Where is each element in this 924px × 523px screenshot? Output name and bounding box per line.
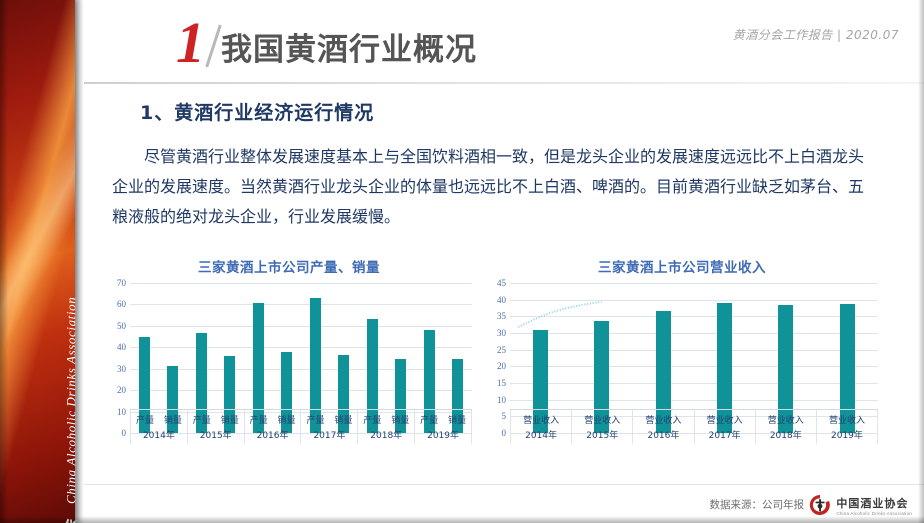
x-axis-group: 产量销量2019年: [415, 410, 472, 444]
y-axis-right: 051015202530354045: [484, 283, 508, 433]
x-axis-subcategory-label: 销量: [386, 413, 414, 426]
x-axis-group: 营业收入2018年: [756, 410, 817, 444]
association-logo-text: 中国酒业协会 China Alcoholic Drinks Associatio…: [836, 495, 912, 516]
chart-title-right: 三家黄酒上市公司营业收入: [484, 252, 880, 276]
x-axis-subcategory-label: 产量: [301, 413, 329, 426]
x-axis-subcategory-label: 产量: [188, 413, 216, 426]
x-axis-group: 营业收入2015年: [572, 410, 633, 444]
x-axis-subcategory-row: 营业收入: [756, 413, 816, 426]
x-axis-subcategory-row: 产量销量: [415, 413, 471, 426]
body-paragraph: 尽管黄酒行业整体发展速度基本上与全国饮料酒相一致，但是龙头企业的发展速度远远比不…: [112, 142, 864, 232]
y-tick-label: 40: [497, 295, 506, 305]
x-axis-group-label: 2017年: [695, 426, 755, 444]
x-axis-subcategory-label: 产量: [358, 413, 386, 426]
y-tick-label: 60: [117, 299, 126, 309]
x-axis-subcategory-label: 销量: [329, 413, 357, 426]
presentation-slide: 中国酒业协会 China Alcoholic Drinks Associatio…: [0, 0, 924, 523]
x-axis-subcategory-row: 产量销量: [301, 413, 357, 426]
section-number: 1: [176, 14, 205, 72]
x-axis-group-label: 2015年: [572, 426, 632, 444]
x-axis-subcategory-label: 销量: [443, 413, 471, 426]
logo-text-cn: 中国酒业协会: [836, 495, 912, 511]
x-axis-group: 营业收入2017年: [695, 410, 756, 444]
x-axis-subcategory-row: 营业收入: [633, 413, 693, 426]
x-axis-subcategory-label: 销量: [216, 413, 244, 426]
slide-bottom-shadow: [0, 516, 924, 523]
y-tick-label: 0: [502, 428, 507, 438]
section-heading: 1、黄酒行业经济运行情况: [140, 98, 374, 125]
page-title: 我国黄酒行业概况: [221, 24, 477, 69]
x-axis-group-label: 2016年: [245, 426, 301, 444]
x-axis-group-label: 2017年: [301, 426, 357, 444]
x-axis-right: 营业收入2014年营业收入2015年营业收入2016年营业收入2017年营业收入…: [510, 409, 878, 444]
y-tick-label: 35: [497, 311, 506, 321]
x-axis-subcategory-label: 产量: [415, 413, 443, 426]
header-slash-divider: [205, 25, 221, 68]
x-axis-subcategory-label: 营业收入: [511, 413, 571, 426]
y-tick-label: 20: [117, 385, 126, 395]
slide-header: 1 我国黄酒行业概况 黄酒分会工作报告 | 2020.07: [84, 0, 924, 84]
x-axis-subcategory-label: 销量: [159, 413, 187, 426]
report-label: 黄酒分会工作报告 | 2020.07: [733, 26, 899, 43]
x-axis-subcategory-label: 营业收入: [756, 413, 816, 426]
chart-production-sales: 三家黄酒上市公司产量、销量 010203040506070 产量销量2014年产…: [104, 252, 474, 474]
x-axis-subcategory-row: 营业收入: [572, 413, 632, 426]
brand-sidebar: 中国酒业协会 China Alcoholic Drinks Associatio…: [0, 0, 75, 523]
association-logo: 中国酒业协会 China Alcoholic Drinks Associatio…: [808, 493, 912, 517]
y-tick-label: 10: [117, 407, 126, 417]
y-tick-label: 15: [497, 378, 506, 388]
x-axis-subcategory-row: 营业收入: [695, 413, 755, 426]
y-axis-left: 010203040506070: [104, 283, 128, 433]
y-tick-label: 70: [117, 278, 126, 288]
x-axis-group-label: 2018年: [756, 426, 816, 444]
x-axis-subcategory-row: 产量销量: [245, 413, 301, 426]
x-axis-group-label: 2014年: [511, 426, 571, 444]
x-axis-subcategory-label: 营业收入: [572, 413, 632, 426]
x-axis-subcategory-label: 产量: [245, 413, 273, 426]
x-axis-group-label: 2016年: [633, 426, 693, 444]
y-tick-label: 30: [117, 364, 126, 374]
x-axis-subcategory-label: 销量: [273, 413, 301, 426]
x-axis-subcategory-label: 营业收入: [817, 413, 877, 426]
x-axis-group-label: 2015年: [188, 426, 244, 444]
y-tick-label: 40: [117, 342, 126, 352]
data-source-note: 数据来源：公司年报: [710, 497, 805, 512]
y-tick-label: 30: [497, 328, 506, 338]
x-axis-group: 产量销量2015年: [188, 410, 245, 444]
y-tick-label: 10: [497, 395, 506, 405]
x-axis-group: 营业收入2016年: [633, 410, 694, 444]
y-tick-label: 50: [117, 321, 126, 331]
association-logo-icon: [808, 493, 832, 517]
x-axis-subcategory-label: 营业收入: [695, 413, 755, 426]
x-axis-left: 产量销量2014年产量销量2015年产量销量2016年产量销量2017年产量销量…: [130, 409, 472, 444]
y-tick-label: 25: [497, 345, 506, 355]
y-tick-label: 20: [497, 361, 506, 371]
x-axis-group-label: 2019年: [817, 426, 877, 444]
chart-title-left: 三家黄酒上市公司产量、销量: [104, 252, 474, 276]
x-axis-subcategory-row: 产量销量: [358, 413, 414, 426]
y-tick-label: 5: [502, 411, 507, 421]
x-axis-group: 产量销量2016年: [245, 410, 302, 444]
x-axis-group: 营业收入2019年: [817, 410, 878, 444]
x-axis-group: 产量销量2018年: [358, 410, 415, 444]
x-axis-group-label: 2019年: [415, 426, 471, 444]
x-axis-group: 产量销量2014年: [130, 410, 188, 444]
x-axis-group: 营业收入2014年: [510, 410, 572, 444]
x-axis-subcategory-row: 产量销量: [131, 413, 187, 426]
chart-revenue: 三家黄酒上市公司营业收入 051015202530354045 营业收入2014…: [484, 252, 880, 474]
x-axis-group-label: 2018年: [358, 426, 414, 444]
slide-right-shadow: [918, 0, 924, 523]
x-axis-group-label: 2014年: [131, 426, 187, 444]
logo-text-en: China Alcoholic Drinks Association: [836, 511, 912, 516]
sidebar-edge-shadow: [75, 0, 84, 523]
x-axis-subcategory-label: 产量: [131, 413, 159, 426]
x-axis-subcategory-row: 营业收入: [817, 413, 877, 426]
x-axis-subcategory-row: 营业收入: [511, 413, 571, 426]
y-tick-label: 45: [497, 278, 506, 288]
y-tick-label: 0: [122, 428, 127, 438]
x-axis-subcategory-label: 营业收入: [633, 413, 693, 426]
x-axis-group: 产量销量2017年: [301, 410, 358, 444]
x-axis-subcategory-row: 产量销量: [188, 413, 244, 426]
